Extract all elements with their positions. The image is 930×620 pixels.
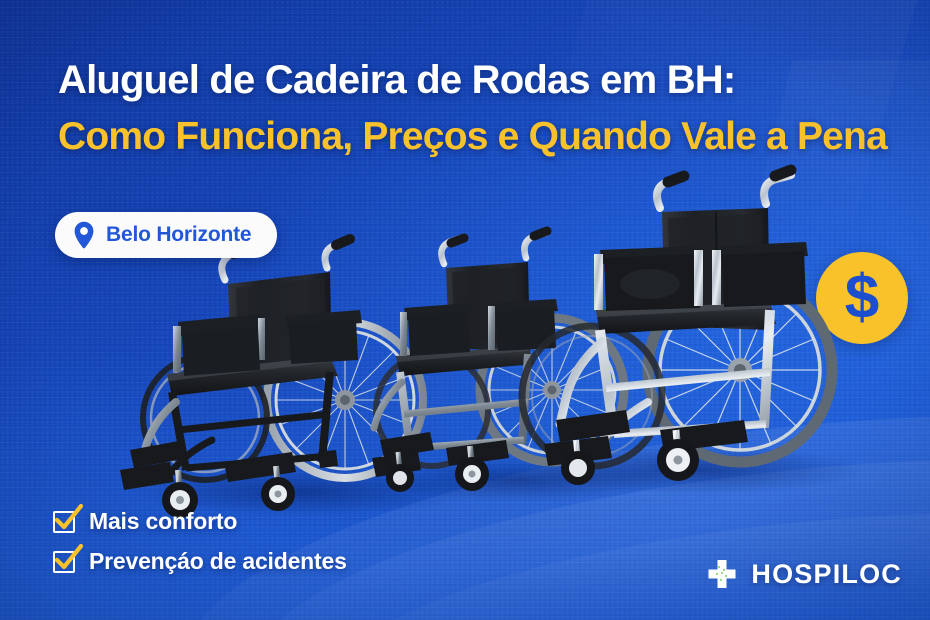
location-badge-label: Belo Horizonte [106,223,251,247]
benefit-item: Mais conforto [53,508,347,535]
checkbox-checked-icon [53,511,75,533]
location-badge[interactable]: Belo Horizonte [55,212,277,258]
headline-block: Aluguel de Cadeira de Rodas em BH: Como … [58,60,908,156]
checkbox-checked-icon [53,551,75,573]
wheelchair-center [372,231,624,492]
benefit-label: Mais conforto [89,508,237,535]
benefits-list: Mais conforto Prevençáo de acidentes [53,508,347,588]
map-pin-icon [73,221,95,249]
wheelchair-right [522,170,832,485]
promo-banner: Aluguel de Cadeira de Rodas em BH: Como … [0,0,930,620]
medical-cross-icon [706,558,738,590]
dollar-sign-icon: $ [816,252,908,344]
decor-wave-band-3 [321,477,930,620]
brand-logo[interactable]: HOSPILOC [706,558,902,590]
wheelchair-left [120,239,423,518]
headline-line-1: Aluguel de Cadeira de Rodas em BH: [58,60,908,100]
benefit-item: Prevençáo de acidentes [53,548,347,575]
svg-text:$: $ [845,264,879,332]
benefit-label: Prevençáo de acidentes [89,548,347,575]
headline-line-2: Como Funciona, Preços e Quando Vale a Pe… [58,117,908,156]
brand-wordmark: HOSPILOC [751,559,902,590]
